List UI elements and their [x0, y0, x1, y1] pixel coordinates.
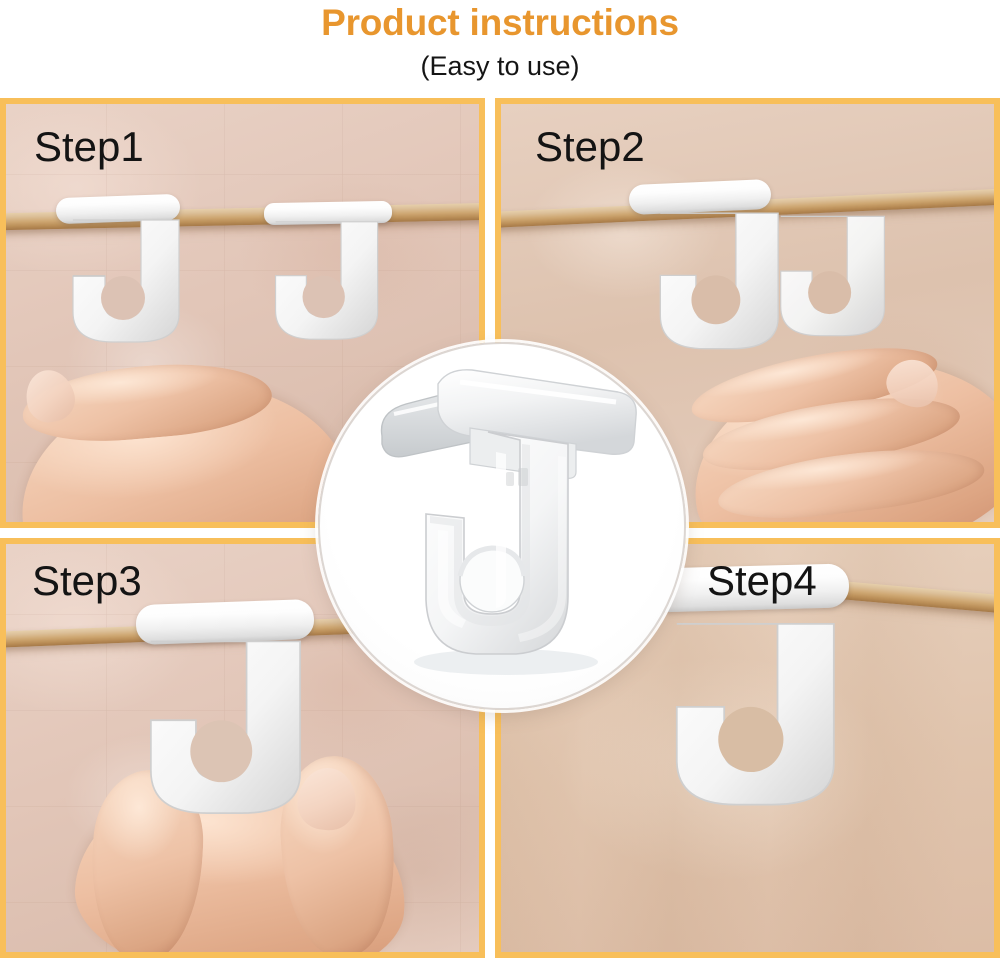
hook-left-body	[61, 214, 196, 349]
page-title: Product instructions	[0, 2, 1000, 44]
hook-body	[659, 600, 859, 830]
product-closeup-inset: Close-up of the white plastic clip-on J …	[318, 342, 686, 710]
hook-back-body	[769, 204, 901, 349]
hook-right-body	[264, 216, 394, 346]
step-label-2: Step2	[535, 126, 645, 168]
product-instructions-infographic: Product instructions (Easy to use)	[0, 0, 1000, 969]
product-hook-illustration	[320, 344, 684, 708]
hook-body	[134, 628, 324, 828]
step-label-3: Step3	[32, 560, 142, 602]
step-label-4: Step4	[707, 560, 817, 602]
step-label-1: Step1	[34, 126, 144, 168]
page-subtitle: (Easy to use)	[0, 50, 1000, 82]
header: Product instructions (Easy to use)	[0, 0, 1000, 96]
